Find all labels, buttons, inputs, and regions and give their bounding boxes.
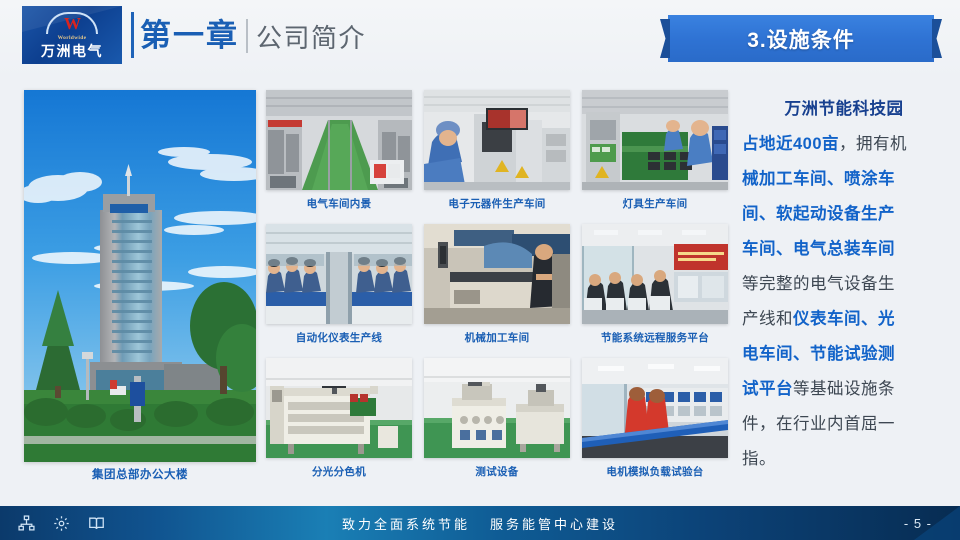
- grid-caption-5: 机械加工车间: [424, 330, 570, 345]
- chapter-title: 第一章: [140, 16, 239, 56]
- thumb-spectro-color-separator: [266, 358, 412, 458]
- grid-cell-2: 电子元器件生产车间: [424, 90, 570, 211]
- logo-w-emblem-icon: W: [46, 12, 98, 34]
- slide-header: W Worldwide 万洲电气 第一章 公司简介 3.设施条件: [0, 0, 960, 78]
- grid-caption-9: 电机模拟负载试验台: [582, 464, 728, 479]
- grid-caption-8: 测试设备: [424, 464, 570, 479]
- description-line: 占地近400亩，拥有机: [742, 127, 946, 162]
- grid-cell-3: 灯具生产车间: [582, 90, 728, 211]
- section-badge: 3.设施条件: [660, 15, 942, 62]
- logo-wmark-text: W: [46, 14, 98, 33]
- thumb-lamp-production: [582, 90, 728, 190]
- thumb-machining-workshop: [424, 224, 570, 324]
- description-line: 试平台等基础设施条: [742, 372, 946, 407]
- description-panel: 万洲节能科技园 占地近400亩，拥有机 械加工车间、喷涂车 间、软起动设备生产 …: [742, 92, 946, 486]
- slide-footer: 致力全面系统节能 服务能管中心建设 - 5 -: [0, 506, 960, 540]
- badge-left-fold: [660, 19, 670, 58]
- grid-caption-4: 自动化仪表生产线: [266, 330, 412, 345]
- badge-right-fold: [932, 19, 942, 58]
- description-line: 产线和仪表车间、光: [742, 302, 946, 337]
- thumb-remote-service-platform: [582, 224, 728, 324]
- footer-slogan-right: 服务能管中心建设: [490, 514, 618, 533]
- grid-cell-4: 自动化仪表生产线: [266, 224, 412, 345]
- grid-cell-8: 测试设备: [424, 358, 570, 479]
- section-badge-body: 3.设施条件: [668, 15, 934, 62]
- grid-caption-3: 灯具生产车间: [582, 196, 728, 211]
- description-line: 电车间、节能试验测: [742, 337, 946, 372]
- company-logo: W Worldwide 万洲电气: [22, 6, 122, 64]
- footer-slogan: 致力全面系统节能 服务能管中心建设: [0, 506, 960, 540]
- footer-slogan-left: 致力全面系统节能: [342, 514, 470, 533]
- description-line: 等完整的电气设备生: [742, 267, 946, 302]
- thumb-electrical-workshop: [266, 90, 412, 190]
- hero-photo-caption: 集团总部办公大楼: [24, 466, 256, 482]
- grid-cell-6: 节能系统远程服务平台: [582, 224, 728, 345]
- description-line: 万洲节能科技园: [742, 92, 946, 127]
- grid-caption-2: 电子元器件生产车间: [424, 196, 570, 211]
- logo-company-name: 万洲电气: [41, 43, 103, 59]
- title-divider: [246, 19, 248, 53]
- description-line: 间、软起动设备生产: [742, 197, 946, 232]
- page-number: - 5 -: [904, 506, 932, 540]
- grid-caption-7: 分光分色机: [266, 464, 412, 479]
- slide-body: 集团总部办公大楼: [0, 78, 960, 506]
- grid-cell-1: 电气车间内景: [266, 90, 412, 211]
- header-accent-divider: [131, 12, 134, 58]
- thumb-automated-instrument-line: [266, 224, 412, 324]
- photo-grid: 电气车间内景: [266, 90, 728, 492]
- thumb-motor-load-test-bench: [582, 358, 728, 458]
- logo-subtext: Worldwide: [58, 35, 87, 41]
- thumb-test-equipment: [424, 358, 570, 458]
- description-line: 件，在行业内首屈一: [742, 407, 946, 442]
- thumb-electronic-components: [424, 90, 570, 190]
- hero-photo-headquarters: [24, 90, 256, 462]
- grid-cell-7: 分光分色机: [266, 358, 412, 479]
- grid-cell-9: 电机模拟负载试验台: [582, 358, 728, 479]
- grid-cell-5: 机械加工车间: [424, 224, 570, 345]
- grid-caption-6: 节能系统远程服务平台: [582, 330, 728, 345]
- page-subtitle: 公司简介: [256, 20, 366, 56]
- section-badge-label: 3.设施条件: [747, 24, 855, 54]
- description-line: 械加工车间、喷涂车: [742, 162, 946, 197]
- hero-photo-graphic: [24, 90, 256, 462]
- description-line: 车间、电气总装车间: [742, 232, 946, 267]
- description-line: 指。: [742, 442, 946, 477]
- grid-caption-1: 电气车间内景: [266, 196, 412, 211]
